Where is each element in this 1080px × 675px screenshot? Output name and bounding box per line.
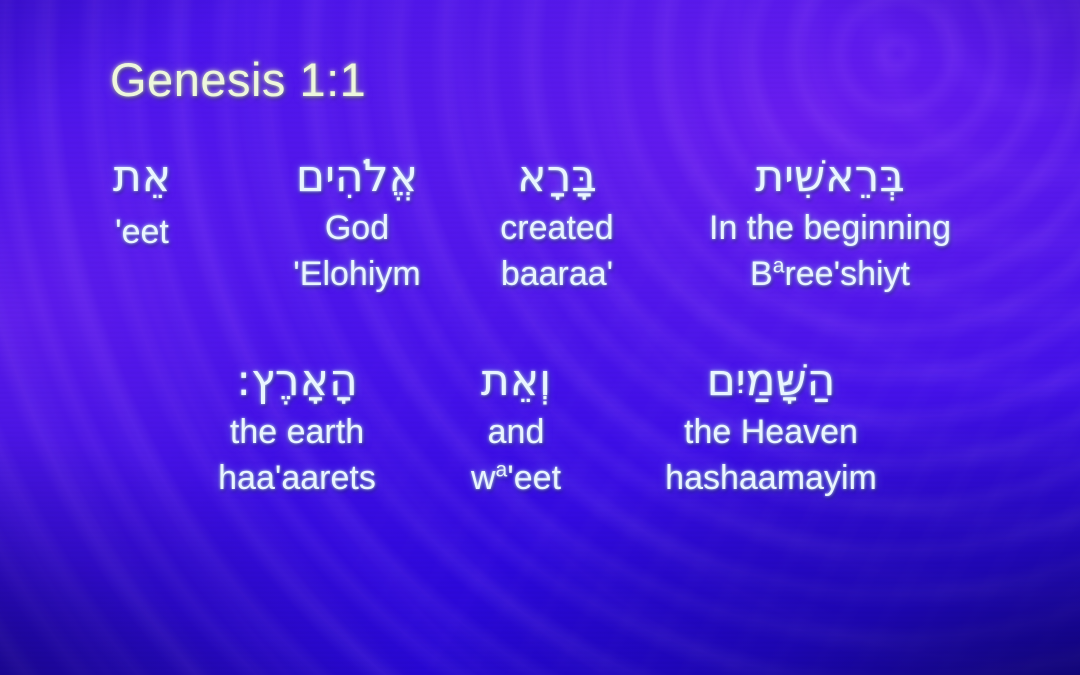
transliteration: baaraa' <box>501 253 613 295</box>
translit-suffix: 'eet <box>507 459 561 497</box>
transliteration: hashaamayim <box>665 457 877 499</box>
english-gloss: and <box>488 411 545 453</box>
translit-suffix: ree'shiyt <box>784 255 910 293</box>
english-gloss: the earth <box>230 411 364 453</box>
slide-title: Genesis 1:1 <box>110 52 366 107</box>
interlinear-row-1: אֵת 'eet אֱלֹהִים God 'Elohiym בָּרָא cr… <box>0 152 1080 296</box>
word-cell-breeshiyt: בְּרֵאשִׁית In the beginning Baree'shiyt <box>650 152 1010 296</box>
projected-slide: Genesis 1:1 אֵת 'eet אֱלֹהִים God 'Elohi… <box>0 0 1080 675</box>
english-gloss: God <box>325 207 389 249</box>
hebrew-word: הָאָרֶץ: <box>236 356 358 405</box>
translit-prefix: 'Elohiym <box>293 255 420 293</box>
hebrew-word: הַשָּׁמַיִם <box>707 356 836 405</box>
translit-prefix: w <box>471 459 496 497</box>
translit-prefix: 'eet <box>115 213 169 251</box>
word-cell-baaraa: בָּרָא created baaraa' <box>464 152 650 296</box>
translit-prefix: baaraa' <box>501 255 613 293</box>
translit-superscript: a <box>496 459 508 482</box>
transliteration: Baree'shiyt <box>750 253 910 295</box>
transliteration: 'Elohiym <box>293 253 420 295</box>
word-cell-elohiym: אֱלֹהִים God 'Elohiym <box>250 152 464 296</box>
hebrew-word: אֱלֹהִים <box>296 152 418 201</box>
translit-prefix: hashaamayim <box>665 459 877 497</box>
word-cell-hashaamayim: הַשָּׁמַיִם the Heaven hashaamayim <box>606 356 936 500</box>
transliteration: 'eet <box>115 211 169 253</box>
hebrew-word: בָּרָא <box>517 152 597 201</box>
interlinear-row-2: הָאָרֶץ: the earth haa'aarets וְאֵת and … <box>0 356 1080 500</box>
hebrew-word: אֵת <box>113 152 171 201</box>
word-cell-eet: אֵת 'eet <box>34 152 250 253</box>
word-cell-haaaarets: הָאָרֶץ: the earth haa'aarets <box>168 356 426 500</box>
translit-prefix: B <box>750 255 773 293</box>
english-gloss: In the beginning <box>709 207 951 249</box>
transliteration: wa'eet <box>471 457 561 499</box>
hebrew-word: בְּרֵאשִׁית <box>755 152 905 201</box>
translit-prefix: haa'aarets <box>218 459 376 497</box>
english-gloss: the Heaven <box>684 411 858 453</box>
transliteration: haa'aarets <box>218 457 376 499</box>
word-cell-waeet: וְאֵת and wa'eet <box>426 356 606 500</box>
english-gloss: created <box>500 207 613 249</box>
translit-superscript: a <box>773 255 785 278</box>
slide-content: Genesis 1:1 אֵת 'eet אֱלֹהִים God 'Elohi… <box>0 0 1080 675</box>
hebrew-word: וְאֵת <box>481 356 551 405</box>
